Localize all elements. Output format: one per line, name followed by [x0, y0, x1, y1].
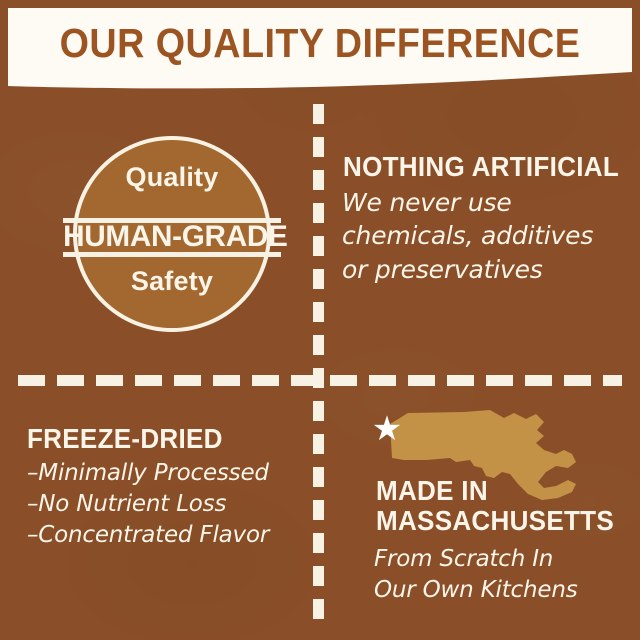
made-in-massachusetts-heading: MADE IN MASSACHUSETTS [376, 476, 614, 536]
star-icon: ★ [370, 412, 404, 446]
list-item: –Concentrated Flavor [27, 520, 312, 551]
nothing-artificial-body: We never use chemicals, additives or pre… [342, 186, 640, 286]
vertical-dashed-divider [313, 104, 324, 622]
body-line: From Scratch In [374, 544, 640, 575]
quadrant-nothing-artificial: NOTHING ARTIFICIAL We never use chemical… [324, 100, 640, 375]
quality-difference-poster: OUR QUALITY DIFFERENCE Quality HUMAN-GRA… [0, 0, 640, 640]
made-in-massachusetts-body: From Scratch In Our Own Kitchens [374, 544, 640, 606]
badge-bottom-word: Safety [73, 266, 271, 297]
heading-line: MASSACHUSETTS [376, 506, 614, 536]
freeze-dried-heading: FREEZE-DRIED [27, 424, 223, 454]
quadrant-made-in-massachusetts: ★ MADE IN MASSACHUSETTS From Scratch In … [324, 386, 640, 640]
header-banner: OUR QUALITY DIFFERENCE [8, 8, 632, 90]
nothing-artificial-heading: NOTHING ARTIFICIAL [343, 152, 619, 182]
body-line: Our Own Kitchens [374, 575, 640, 606]
body-line: or preservatives [342, 253, 640, 286]
badge-main-word: HUMAN-GRADE [63, 220, 281, 254]
body-line: We never use [342, 186, 640, 219]
freeze-dried-bullet-list: –Minimally Processed –No Nutrient Loss –… [27, 458, 312, 551]
quadrant-human-grade: Quality HUMAN-GRADE Safety [0, 100, 313, 375]
page-title: OUR QUALITY DIFFERENCE [33, 20, 607, 67]
quadrant-freeze-dried: FREEZE-DRIED –Minimally Processed –No Nu… [0, 386, 313, 640]
heading-line: MADE IN [376, 476, 614, 506]
human-grade-badge: Quality HUMAN-GRADE Safety [73, 136, 271, 332]
body-line: chemicals, additives [342, 219, 640, 252]
list-item: –Minimally Processed [27, 458, 312, 489]
list-item: –No Nutrient Loss [27, 489, 312, 520]
badge-top-word: Quality [73, 162, 271, 193]
